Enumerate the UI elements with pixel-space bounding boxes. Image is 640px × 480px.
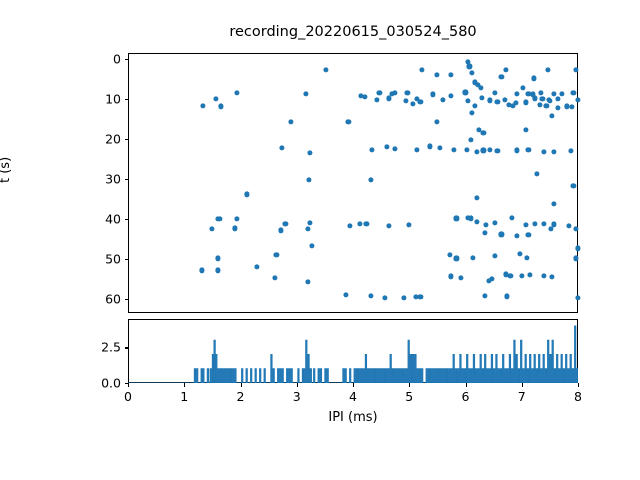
scatter-point (430, 92, 435, 97)
scatter-point (452, 147, 457, 152)
scatter-point (566, 223, 571, 228)
scatter-point (245, 192, 250, 197)
scatter-point (488, 98, 493, 103)
x-tick-label: 5 (405, 389, 413, 404)
scatter-point (570, 105, 575, 110)
scatter-point (309, 243, 314, 248)
scatter-point (401, 295, 406, 300)
scatter-point (448, 72, 453, 77)
scatter-point (392, 147, 397, 152)
scatter-y-tick-mark (125, 139, 129, 140)
x-tick-label: 1 (180, 389, 188, 404)
scatter-point (575, 246, 580, 251)
scatter-point (463, 90, 468, 95)
x-tick-label: 7 (518, 389, 526, 404)
scatter-point (492, 91, 497, 96)
histogram-y-tick-label: 2.5 (82, 340, 121, 355)
scatter-point (560, 91, 565, 96)
scatter-point (470, 71, 475, 76)
scatter-point (495, 149, 500, 154)
scatter-point (574, 227, 579, 232)
scatter-point (478, 85, 483, 90)
x-tick-label: 2 (237, 389, 245, 404)
scatter-point (503, 67, 508, 72)
scatter-point (435, 73, 440, 78)
scatter-point (548, 226, 553, 231)
scatter-point (495, 99, 500, 104)
scatter-point (386, 96, 391, 101)
scatter-point (419, 67, 424, 72)
scatter-point (368, 177, 373, 182)
x-tick-mark (241, 383, 242, 387)
matplotlib-figure: recording_20220615_030524_580 t (s) 0102… (0, 0, 640, 480)
scatter-point (407, 223, 412, 228)
scatter-point (470, 111, 475, 116)
scatter-point (448, 274, 453, 279)
scatter-point (517, 251, 522, 256)
scatter-point (481, 148, 486, 153)
scatter-point (484, 222, 489, 227)
scatter-point (435, 119, 440, 124)
scatter-point (418, 99, 423, 104)
scatter-point (519, 273, 524, 278)
scatter-point (305, 227, 310, 232)
scatter-point (403, 99, 408, 104)
x-tick-mark (409, 383, 410, 387)
scatter-point (549, 113, 554, 118)
x-tick-mark (184, 383, 185, 387)
scatter-point (549, 274, 554, 279)
x-tick-label: 0 (124, 389, 132, 404)
scatter-point (418, 295, 423, 300)
scatter-y-tick-mark (125, 59, 129, 60)
scatter-point (464, 147, 469, 152)
scatter-point (509, 215, 514, 220)
scatter-point (492, 220, 497, 225)
scatter-point (440, 97, 445, 102)
scatter-point (323, 67, 328, 72)
scatter-point (555, 97, 560, 102)
scatter-y-tick-label: 30 (82, 172, 121, 187)
scatter-y-tick-mark (125, 259, 129, 260)
x-tick-mark (297, 383, 298, 387)
scatter-point (386, 223, 391, 228)
scatter-point (527, 273, 532, 278)
scatter-point (308, 151, 313, 156)
scatter-point (447, 253, 452, 258)
x-axis-label: IPI (ms) (128, 410, 578, 425)
scatter-point (467, 64, 472, 69)
scatter-point (525, 255, 530, 260)
scatter-point (574, 256, 579, 261)
scatter-point (346, 119, 351, 124)
scatter-y-tick-mark (125, 179, 129, 180)
scatter-point (520, 85, 525, 90)
scatter-point (368, 293, 373, 298)
histogram-y-tick-mark (125, 347, 129, 348)
scatter-point (474, 149, 479, 154)
scatter-y-tick-mark (125, 299, 129, 300)
scatter-point (531, 76, 536, 81)
scatter-point (542, 149, 547, 154)
scatter-point (515, 233, 520, 238)
scatter-point (574, 67, 579, 72)
scatter-point (364, 221, 369, 226)
scatter-point (234, 216, 239, 221)
scatter-point (533, 96, 538, 101)
scatter-point (306, 177, 311, 182)
x-tick-mark (578, 383, 579, 387)
scatter-point (210, 226, 215, 231)
scatter-point (515, 91, 520, 96)
scatter-y-tick-label: 10 (82, 92, 121, 107)
scatter-point (537, 103, 542, 108)
scatter-point (448, 93, 453, 98)
scatter-point (571, 91, 576, 96)
scatter-point (508, 273, 513, 278)
scatter-y-tick-mark (125, 99, 129, 100)
scatter-point (201, 103, 206, 108)
scatter-point (533, 221, 538, 226)
scatter-point (215, 256, 220, 261)
scatter-point (571, 183, 576, 188)
scatter-point (542, 221, 547, 226)
x-tick-mark (522, 383, 523, 387)
scatter-point (523, 127, 528, 132)
scatter-point (488, 147, 493, 152)
scatter-point (499, 232, 504, 237)
scatter-point (471, 255, 476, 260)
scatter-point (568, 149, 573, 154)
x-tick-label: 6 (462, 389, 470, 404)
scatter-y-tick-mark (125, 219, 129, 220)
scatter-point (414, 147, 419, 152)
scatter-point (405, 90, 410, 95)
scatter-point (273, 275, 278, 280)
scatter-point (513, 101, 518, 106)
scatter-point (551, 91, 556, 96)
scatter-y-axis-label: t (s) (0, 157, 13, 183)
scatter-point (219, 104, 224, 109)
scatter-point (538, 90, 543, 95)
scatter-point (551, 149, 556, 154)
scatter-point (437, 145, 442, 150)
x-tick-mark (466, 383, 467, 387)
histogram-y-tick-label: 0.0 (82, 376, 121, 391)
scatter-point (482, 293, 487, 298)
scatter-point (523, 223, 528, 228)
scatter-point (526, 233, 531, 238)
scatter-point (474, 195, 479, 200)
scatter-point (369, 147, 374, 152)
scatter-point (274, 253, 279, 258)
scatter-point (427, 144, 432, 149)
scatter-point (526, 147, 531, 152)
scatter-point (363, 94, 368, 99)
x-tick-label: 8 (574, 389, 582, 404)
scatter-point (547, 99, 552, 104)
scatter-point (454, 256, 459, 261)
scatter-point (474, 219, 479, 224)
scatter-point (255, 265, 260, 270)
scatter-point (545, 67, 550, 72)
scatter-point (218, 217, 223, 222)
scatter-point (392, 91, 397, 96)
scatter-y-tick-label: 0 (82, 52, 121, 67)
scatter-point (454, 216, 459, 221)
scatter-point (551, 201, 556, 206)
scatter-point (481, 131, 486, 136)
scatter-point (343, 293, 348, 298)
scatter-point (575, 97, 580, 102)
scatter-point (304, 91, 309, 96)
scatter-point (504, 294, 509, 299)
scatter-point (384, 144, 389, 149)
scatter-point (278, 228, 283, 233)
scatter-point (288, 119, 293, 124)
scatter-point (492, 253, 497, 258)
scatter-point (458, 275, 463, 280)
scatter-point (472, 103, 477, 108)
scatter-point (215, 268, 220, 273)
scatter-point (542, 273, 547, 278)
scatter-point (308, 221, 313, 226)
x-tick-label: 4 (349, 389, 357, 404)
histogram-trace (128, 319, 578, 383)
scatter-point (523, 100, 528, 105)
x-tick-mark (128, 383, 129, 387)
scatter-point (555, 105, 560, 110)
scatter-point (499, 74, 504, 79)
scatter-point (564, 104, 569, 109)
scatter-point (347, 223, 352, 228)
x-tick-mark (353, 383, 354, 387)
scatter-y-tick-label: 60 (82, 292, 121, 307)
scatter-point (575, 295, 580, 300)
scatter-y-tick-label: 50 (82, 252, 121, 267)
scatter-point (377, 90, 382, 95)
scatter-point (357, 221, 362, 226)
scatter-point (480, 95, 485, 100)
scatter-point (468, 216, 473, 221)
scatter-point (465, 98, 470, 103)
scatter-point (410, 101, 415, 106)
scatter-plot-area (128, 53, 578, 313)
scatter-point (374, 97, 379, 102)
scatter-point (534, 171, 539, 176)
scatter-point (200, 268, 205, 273)
scatter-point (540, 96, 545, 101)
scatter-y-tick-label: 20 (82, 132, 121, 147)
scatter-point (234, 90, 239, 95)
scatter-point (232, 226, 237, 231)
scatter-point (214, 96, 219, 101)
x-tick-label: 3 (293, 389, 301, 404)
scatter-point (305, 279, 310, 284)
scatter-y-tick-label: 40 (82, 212, 121, 227)
scatter-point (482, 231, 487, 236)
scatter-point (489, 276, 494, 281)
scatter-point (544, 103, 549, 108)
scatter-point (515, 148, 520, 153)
scatter-point (468, 137, 473, 142)
histogram-polyline (128, 326, 578, 383)
scatter-point (382, 295, 387, 300)
figure-title: recording_20220615_030524_580 (128, 24, 578, 40)
scatter-point (279, 145, 284, 150)
scatter-point (283, 221, 288, 226)
